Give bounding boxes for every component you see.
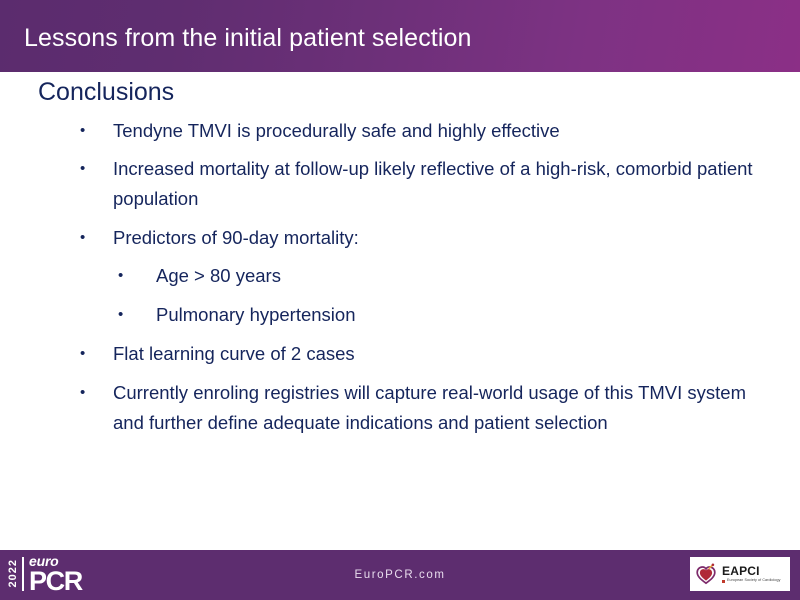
slide-body: Conclusions •Tendyne TMVI is procedurall… [0,72,800,550]
europcr-logo-pcr-text: PCR [29,569,82,594]
bullet-item: •Currently enroling registries will capt… [0,378,800,438]
eapci-name: EAPCI [722,565,781,577]
europcr-logo: 2022 euro PCR [8,551,82,596]
bullet-marker-icon: • [80,116,113,145]
europcr-logo-year: 2022 [8,558,19,588]
bullet-item: •Flat learning curve of 2 cases [0,339,800,369]
bullet-marker-icon: • [118,261,156,290]
eapci-logo: EAPCI European Society of Cardiology [690,557,790,591]
bullet-text: Flat learning curve of 2 cases [113,339,777,369]
eapci-subtitle: European Society of Cardiology [727,579,781,583]
bullet-text: Age > 80 years [156,261,760,291]
bullet-item: •Age > 80 years [0,261,800,291]
bullet-marker-icon: • [80,339,113,368]
esc-square-icon [722,580,725,583]
eapci-text-block: EAPCI European Society of Cardiology [722,565,781,583]
bullet-item: •Predictors of 90-day mortality: [0,223,800,253]
bullet-item: •Tendyne TMVI is procedurally safe and h… [0,116,800,146]
section-heading: Conclusions [38,77,800,107]
page-title: Lessons from the initial patient selecti… [24,24,472,53]
slide-header: Lessons from the initial patient selecti… [0,0,800,72]
bullet-item: •Increased mortality at follow-up likely… [0,154,800,214]
bullet-text: Pulmonary hypertension [156,300,760,330]
bullet-text: Predictors of 90-day mortality: [113,223,777,253]
bullet-text: Tendyne TMVI is procedurally safe and hi… [113,116,777,146]
bullet-text: Increased mortality at follow-up likely … [113,154,777,214]
europcr-logo-divider [22,557,24,591]
conclusions-bullet-list: •Tendyne TMVI is procedurally safe and h… [0,116,800,438]
bullet-marker-icon: • [80,223,113,252]
europcr-logo-wordmark: euro PCR [29,554,82,594]
bullet-item: •Pulmonary hypertension [0,300,800,330]
bullet-marker-icon: • [80,154,113,183]
heart-icon [694,562,718,586]
slide-footer: EuroPCR.com [0,550,800,600]
eapci-subtitle-row: European Society of Cardiology [722,579,781,583]
bullet-marker-icon: • [118,300,156,329]
bullet-marker-icon: • [80,378,113,407]
footer-website-label: EuroPCR.com [0,550,800,600]
bullet-text: Currently enroling registries will captu… [113,378,777,438]
